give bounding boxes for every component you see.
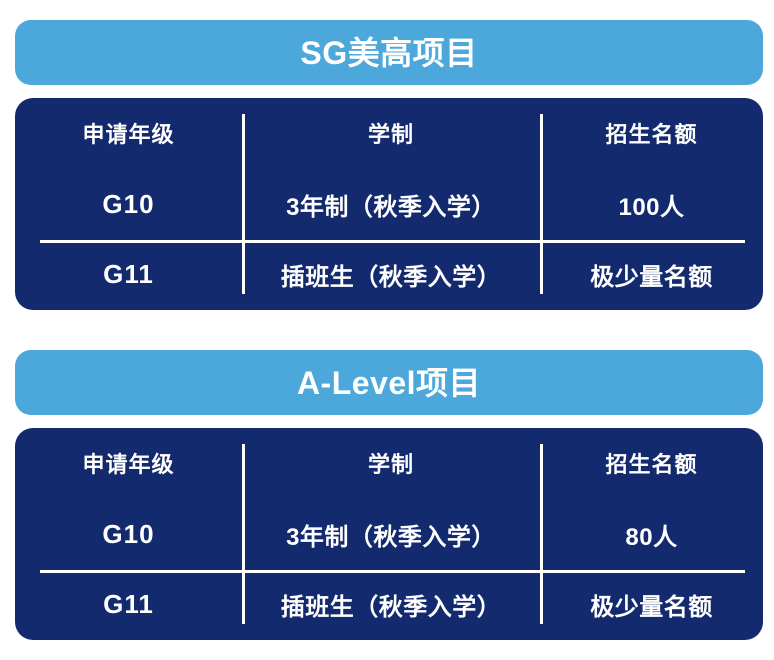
table-cell-system: 3年制（秋季入学） [242, 499, 540, 570]
table-row-divider [40, 570, 745, 573]
table-header-quota: 招生名额 [540, 98, 763, 169]
table-cell-grade: G10 [15, 499, 242, 570]
program-section-alevel: A-Level项目 申请年级 学制 招生名额 G10 3年制（秋季入学） 80人… [15, 350, 763, 640]
table-cell-quota: 极少量名额 [540, 239, 763, 310]
table-cell-grade: G10 [15, 169, 242, 240]
program-table-panel-alevel: 申请年级 学制 招生名额 G10 3年制（秋季入学） 80人 G11 插班生（秋… [15, 428, 763, 640]
table-cell-quota: 100人 [540, 169, 763, 240]
table-header-grade: 申请年级 [15, 428, 242, 499]
table-cell-system: 插班生（秋季入学） [242, 239, 540, 310]
table-header-row: 申请年级 学制 招生名额 [15, 428, 763, 499]
table-column-divider [540, 444, 543, 624]
table-header-grade: 申请年级 [15, 98, 242, 169]
program-banner-alevel: A-Level项目 [15, 350, 763, 415]
table-header-row: 申请年级 学制 招生名额 [15, 98, 763, 169]
table-row: G10 3年制（秋季入学） 80人 [15, 499, 763, 570]
program-table-panel-sg: 申请年级 学制 招生名额 G10 3年制（秋季入学） 100人 G11 插班生（… [15, 98, 763, 310]
table-header-system: 学制 [242, 98, 540, 169]
program-title-alevel: A-Level项目 [297, 367, 481, 399]
table-row-divider [40, 240, 745, 243]
table-row: G11 插班生（秋季入学） 极少量名额 [15, 239, 763, 310]
program-section-sg: SG美高项目 申请年级 学制 招生名额 G10 3年制（秋季入学） 100人 G… [15, 20, 763, 310]
table-header-system: 学制 [242, 428, 540, 499]
table-row: G11 插班生（秋季入学） 极少量名额 [15, 569, 763, 640]
admissions-program-infographic: SG美高项目 申请年级 学制 招生名额 G10 3年制（秋季入学） 100人 G… [0, 0, 774, 660]
table-header-quota: 招生名额 [540, 428, 763, 499]
table-row: G10 3年制（秋季入学） 100人 [15, 169, 763, 240]
program-banner-sg: SG美高项目 [15, 20, 763, 85]
table-cell-grade: G11 [15, 239, 242, 310]
table-cell-system: 3年制（秋季入学） [242, 169, 540, 240]
table-column-divider [242, 444, 245, 624]
table-cell-quota: 极少量名额 [540, 569, 763, 640]
table-cell-system: 插班生（秋季入学） [242, 569, 540, 640]
program-table-alevel: 申请年级 学制 招生名额 G10 3年制（秋季入学） 80人 G11 插班生（秋… [15, 428, 763, 640]
program-title-sg: SG美高项目 [300, 37, 477, 69]
table-column-divider [540, 114, 543, 294]
table-cell-grade: G11 [15, 569, 242, 640]
table-cell-quota: 80人 [540, 499, 763, 570]
program-table-sg: 申请年级 学制 招生名额 G10 3年制（秋季入学） 100人 G11 插班生（… [15, 98, 763, 310]
table-column-divider [242, 114, 245, 294]
